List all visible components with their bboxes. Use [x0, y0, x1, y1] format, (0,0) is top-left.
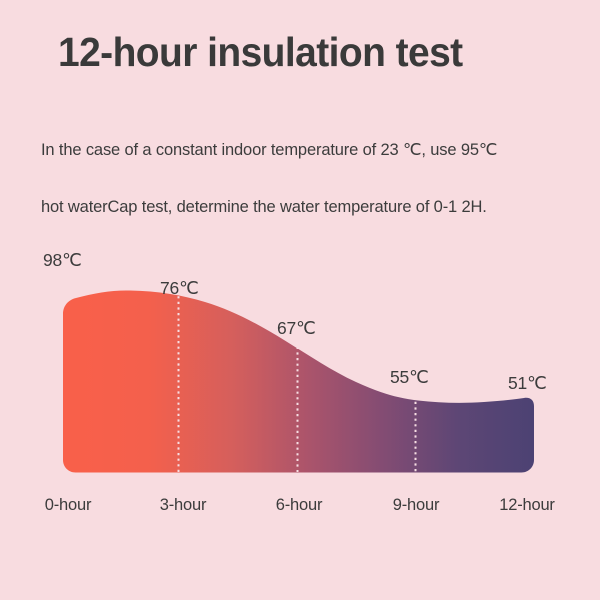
value-label-9-hour: 55℃	[390, 367, 429, 387]
insulation-area-chart: 98℃ 76℃ 67℃ 55℃ 51℃ 0-hour 3-hour 6-hour…	[0, 230, 600, 530]
description-line-1: In the case of a constant indoor tempera…	[41, 122, 571, 179]
x-axis-labels: 0-hour 3-hour 6-hour 9-hour 12-hour	[0, 494, 600, 520]
axis-label-3-hour: 3-hour	[160, 494, 207, 516]
value-label-12-hour: 51℃	[508, 373, 547, 393]
axis-label-9-hour: 9-hour	[393, 494, 440, 516]
axis-label-12-hour: 12-hour	[499, 494, 554, 516]
page-title: 12-hour insulation test	[58, 26, 463, 78]
value-label-6-hour: 67℃	[277, 318, 316, 338]
description-text: In the case of a constant indoor tempera…	[41, 122, 571, 236]
value-label-3-hour: 76℃	[160, 278, 199, 298]
axis-label-6-hour: 6-hour	[276, 494, 323, 516]
axis-label-0-hour: 0-hour	[45, 494, 92, 516]
value-label-0-hour: 98℃	[43, 250, 82, 270]
description-line-2: hot waterCap test, determine the water t…	[41, 179, 571, 236]
